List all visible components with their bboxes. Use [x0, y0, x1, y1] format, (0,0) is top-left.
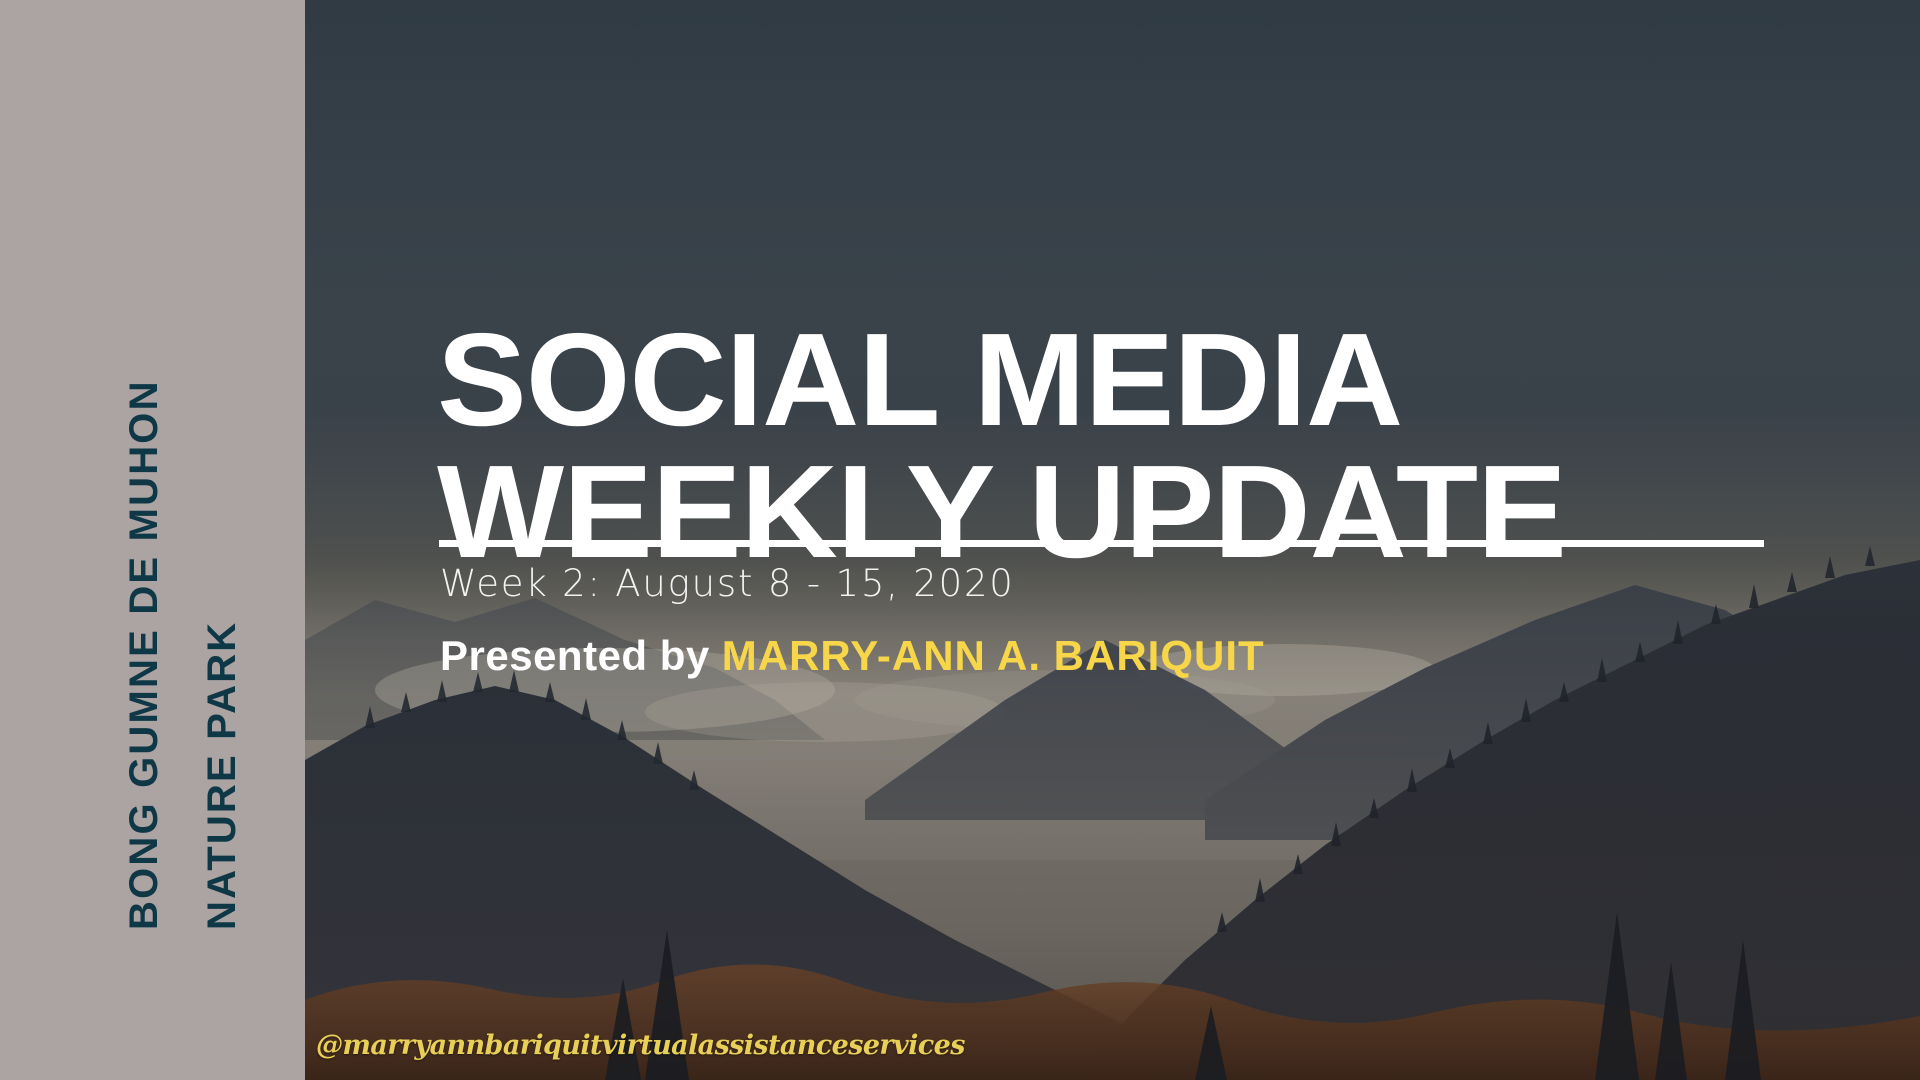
presented-by-label: Presented by: [440, 632, 710, 679]
week-range-label: Week 2: August 8 - 15, 2020: [440, 562, 1015, 606]
sidebar-line-organization: BONG GUMNE DE MUHON: [124, 379, 164, 930]
presenter-name: MARRY-ANN A. BARIQUIT: [722, 632, 1265, 679]
title-divider-rule: [439, 540, 1764, 547]
sidebar-panel: BONG GUMNE DE MUHON NATURE PARK: [0, 0, 305, 1080]
presenter-line: Presented byMARRY-ANN A. BARIQUIT: [440, 632, 1265, 680]
page-title: SOCIAL MEDIA WEEKLY UPDATE: [437, 314, 1865, 578]
sidebar-line-subtitle: NATURE PARK: [202, 621, 242, 930]
title-slide: BONG GUMNE DE MUHON NATURE PARK SOCIAL M…: [0, 0, 1920, 1080]
page-title-line-2: WEEKLY UPDATE: [437, 446, 1865, 578]
sidebar-vertical-text: BONG GUMNE DE MUHON NATURE PARK: [0, 0, 305, 1080]
watermark-handle: @marryannbariquitvirtualassistanceservic…: [316, 1030, 965, 1061]
page-title-line-1: SOCIAL MEDIA: [437, 314, 1865, 446]
